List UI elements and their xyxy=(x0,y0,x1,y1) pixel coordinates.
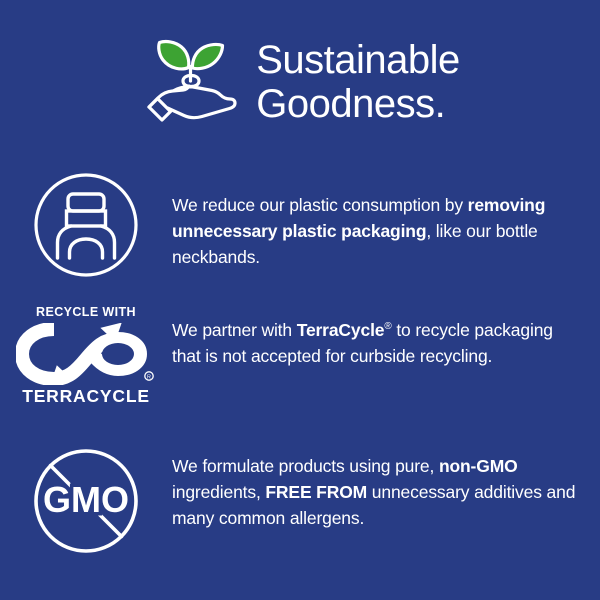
feature-row-terracycle: RECYCLE WITH R TERRACYCLE xyxy=(0,303,600,406)
feature-row-plastic-reduction: We reduce our plastic consumption by rem… xyxy=(0,168,600,280)
page-title: Sustainable Goodness. xyxy=(256,36,460,126)
icon-cell-terracycle: RECYCLE WITH R TERRACYCLE xyxy=(0,303,172,406)
svg-text:R: R xyxy=(147,375,151,381)
hand-holding-plant-icon xyxy=(140,29,244,133)
feature-row-non-gmo: GMO We formulate products using pure, no… xyxy=(0,443,600,557)
feature-text-plastic-reduction: We reduce our plastic consumption by rem… xyxy=(172,168,584,270)
text-segment: We formulate products using pure, xyxy=(172,456,439,476)
text-segment: We partner with xyxy=(172,320,297,340)
text-segment-bold: FREE FROM xyxy=(265,482,367,502)
text-segment-bold: non-GMO xyxy=(439,456,518,476)
feature-text-non-gmo: We formulate products using pure, non-GM… xyxy=(172,443,584,531)
no-gmo-icon: GMO xyxy=(30,445,142,557)
terracycle-infinity-loop-icon: R xyxy=(16,323,156,385)
feature-text-terracycle: We partner with TerraCycle® to recycle p… xyxy=(172,303,584,369)
header: Sustainable Goodness. xyxy=(0,26,600,136)
text-segment-bold: TerraCycle xyxy=(297,320,385,340)
terracycle-logo: RECYCLE WITH R TERRACYCLE xyxy=(16,305,156,406)
registered-mark: ® xyxy=(384,321,391,332)
terracycle-logo-top-text: RECYCLE WITH xyxy=(16,305,156,319)
text-cell-non-gmo: We formulate products using pure, non-GM… xyxy=(172,443,600,531)
text-segment: ingredients, xyxy=(172,482,265,502)
bottle-neckband-icon xyxy=(31,170,141,280)
icon-cell-bottle xyxy=(0,168,172,280)
icon-cell-non-gmo: GMO xyxy=(0,443,172,557)
text-cell-terracycle: We partner with TerraCycle® to recycle p… xyxy=(172,303,600,369)
text-cell-plastic-reduction: We reduce our plastic consumption by rem… xyxy=(172,168,600,270)
sustainable-goodness-infographic: Sustainable Goodness. We reduce our plas… xyxy=(0,0,600,600)
no-gmo-label: GMO xyxy=(43,479,129,520)
text-segment: We reduce our plastic consumption by xyxy=(172,195,468,215)
terracycle-logo-bottom-text: TERRACYCLE xyxy=(16,387,156,406)
